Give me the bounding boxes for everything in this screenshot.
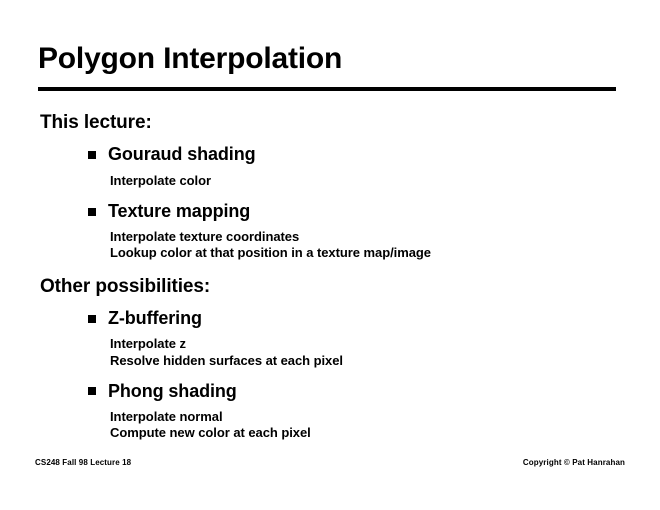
section-heading: This lecture: <box>40 112 660 134</box>
list-item-detail: Resolve hidden surfaces at each pixel <box>110 353 660 369</box>
list-item-detail: Interpolate z <box>110 336 660 352</box>
list-item-detail: Compute new color at each pixel <box>110 425 660 441</box>
square-bullet-icon <box>88 315 96 323</box>
list-item-detail: Interpolate normal <box>110 409 660 425</box>
slide: Polygon Interpolation This lecture: Gour… <box>0 0 660 510</box>
square-bullet-icon <box>88 208 96 216</box>
list-item-label: Gouraud shading <box>108 144 256 165</box>
title-divider <box>38 87 616 91</box>
list-item-label: Z-buffering <box>108 308 202 329</box>
outline-body: This lecture: Gouraud shading Interpolat… <box>0 112 660 442</box>
list-item-detail: Interpolate color <box>110 173 660 189</box>
page-title: Polygon Interpolation <box>38 43 342 75</box>
section-heading: Other possibilities: <box>40 276 660 298</box>
list-item: Z-buffering <box>88 308 660 329</box>
slide-footer: CS248 Fall 98 Lecture 18 Copyright © Pat… <box>0 458 660 472</box>
list-item-label: Phong shading <box>108 381 237 402</box>
list-item-detail: Interpolate texture coordinates <box>110 229 660 245</box>
square-bullet-icon <box>88 387 96 395</box>
list-item: Gouraud shading <box>88 144 660 165</box>
list-item: Texture mapping <box>88 201 660 222</box>
list-item-label: Texture mapping <box>108 201 250 222</box>
list-item-detail: Lookup color at that position in a textu… <box>110 245 660 261</box>
square-bullet-icon <box>88 151 96 159</box>
footer-copyright: Copyright © Pat Hanrahan <box>523 458 625 467</box>
footer-course-label: CS248 Fall 98 Lecture 18 <box>35 458 131 467</box>
list-item: Phong shading <box>88 381 660 402</box>
